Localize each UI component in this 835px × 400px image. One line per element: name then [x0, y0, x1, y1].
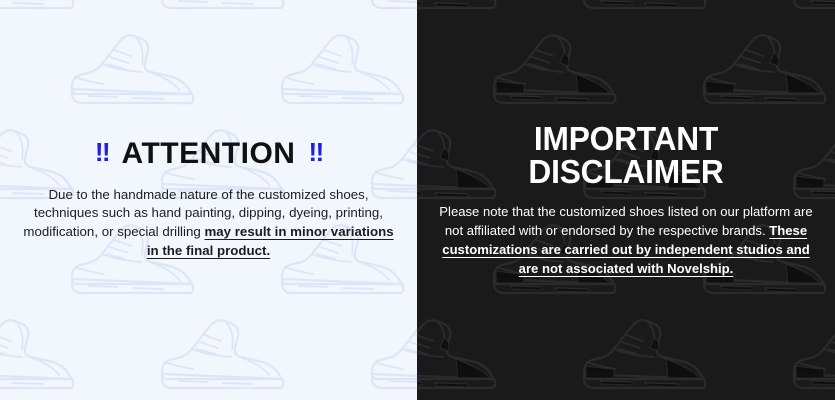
disclaimer-heading: IMPORTANT DISCLAIMER	[446, 122, 805, 189]
attention-panel: ‼ATTENTION‼ Due to the handmade nature o…	[0, 0, 417, 400]
disclaimer-heading-line-1: IMPORTANT	[446, 122, 805, 156]
double-exclamation-left-icon: ‼	[95, 139, 109, 166]
disclaimer-content: IMPORTANT DISCLAIMER Please note that th…	[417, 122, 835, 279]
attention-body: Due to the handmade nature of the custom…	[22, 186, 395, 262]
double-exclamation-right-icon: ‼	[308, 139, 322, 166]
disclaimer-panel: IMPORTANT DISCLAIMER Please note that th…	[417, 0, 835, 400]
disclaimer-body: Please note that the customized shoes li…	[439, 203, 813, 278]
disclaimer-heading-line-2: DISCLAIMER	[446, 155, 805, 189]
attention-content: ‼ATTENTION‼ Due to the handmade nature o…	[0, 139, 417, 261]
disclaimer-body-plain: Please note that the customized shoes li…	[439, 204, 812, 238]
attention-heading: ‼ATTENTION‼	[22, 139, 395, 170]
attention-heading-text: ATTENTION	[122, 139, 296, 170]
customization-notice-banner: ‼ATTENTION‼ Due to the handmade nature o…	[0, 0, 835, 400]
